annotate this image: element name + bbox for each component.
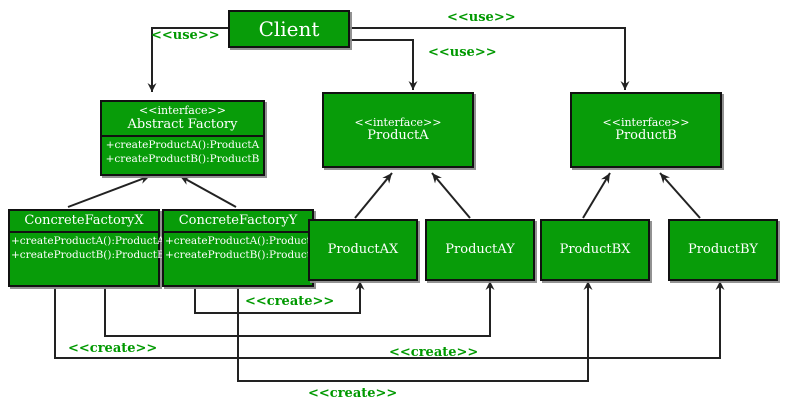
edge-label-create-factoryx-productby: <<create>>	[389, 345, 478, 360]
edge-realize-productay-producta	[432, 173, 470, 218]
edge-label-use-client-productb: <<use>>	[447, 10, 516, 25]
class-box-product-ax[interactable]: ProductAX	[308, 219, 418, 281]
operations-concrete-factory-x: +createProductA():ProductA +createProduc…	[10, 233, 158, 264]
class-box-abstract-factory[interactable]: <<interface>> Abstract Factory +createPr…	[100, 100, 265, 176]
operation-create-product-b: +createProductB():ProductB	[11, 248, 157, 262]
class-header-product-bx: ProductBX	[558, 240, 633, 260]
class-box-product-bx[interactable]: ProductBX	[540, 219, 650, 281]
class-name-product-by: ProductBY	[688, 243, 758, 258]
class-header-client: Client	[257, 15, 322, 43]
stereotype-interface-abstract-factory: <<interface>>	[104, 105, 261, 118]
edge-realize-factoryx-abstractfactory	[68, 176, 150, 207]
class-header-abstract-factory: <<interface>> Abstract Factory	[102, 102, 263, 135]
edge-use-client-producta	[350, 40, 413, 90]
class-header-product-by: ProductBY	[686, 240, 760, 260]
class-header-concrete-factory-y: ConcreteFactoryY	[164, 211, 312, 231]
uml-class-diagram: Client <<interface>> Abstract Factory +c…	[0, 0, 796, 405]
edge-label-use-client-producta: <<use>>	[428, 45, 497, 60]
operation-create-product-a: +createProductA():ProductA	[103, 138, 262, 152]
edge-realize-productby-productb	[660, 173, 700, 218]
class-box-product-ay[interactable]: ProductAY	[425, 219, 535, 281]
class-name-concrete-factory-y: ConcreteFactoryY	[166, 214, 310, 229]
class-box-client[interactable]: Client	[228, 10, 350, 48]
class-name-product-b: ProductB	[603, 129, 690, 144]
operation-create-product-a: +createProductA():ProductA	[11, 234, 157, 248]
operations-concrete-factory-y: +createProductA():ProductA +createProduc…	[164, 233, 312, 264]
class-header-concrete-factory-x: ConcreteFactoryX	[10, 211, 158, 231]
class-name-product-a: ProductA	[355, 129, 442, 144]
class-name-concrete-factory-x: ConcreteFactoryX	[12, 214, 156, 229]
class-name-product-ay: ProductAY	[445, 243, 514, 258]
class-box-product-b[interactable]: <<interface>> ProductB	[570, 92, 722, 168]
class-name-abstract-factory: Abstract Factory	[104, 118, 261, 133]
class-header-product-ax: ProductAX	[326, 240, 401, 260]
operation-create-product-b: +createProductB():ProductB	[103, 152, 262, 166]
edge-label-create-factoryy-productbx: <<create>>	[308, 386, 397, 401]
operation-create-product-b: +createProductB():ProductB	[165, 248, 311, 262]
edge-label-create-factoryy-productax: <<create>>	[245, 294, 334, 309]
class-box-concrete-factory-x[interactable]: ConcreteFactoryX +createProductA():Produ…	[8, 209, 160, 287]
edge-realize-productax-producta	[355, 173, 392, 218]
class-name-product-bx: ProductBX	[560, 243, 631, 258]
class-box-product-a[interactable]: <<interface>> ProductA	[322, 92, 474, 168]
class-header-product-a: <<interface>> ProductA	[353, 114, 444, 147]
class-header-product-b: <<interface>> ProductB	[601, 114, 692, 147]
class-name-product-ax: ProductAX	[328, 243, 399, 258]
operations-abstract-factory: +createProductA():ProductA +createProduc…	[102, 137, 263, 168]
class-name-client: Client	[259, 18, 320, 41]
edge-realize-productbx-productb	[583, 173, 610, 218]
edge-label-create-factoryx-productay: <<create>>	[68, 341, 157, 356]
class-header-product-ay: ProductAY	[443, 240, 516, 260]
edge-realize-factoryy-abstractfactory	[180, 176, 236, 207]
edge-label-use-client-abstractfactory: <<use>>	[151, 28, 220, 43]
class-box-concrete-factory-y[interactable]: ConcreteFactoryY +createProductA():Produ…	[162, 209, 314, 287]
class-box-product-by[interactable]: ProductBY	[668, 219, 778, 281]
operation-create-product-a: +createProductA():ProductA	[165, 234, 311, 248]
